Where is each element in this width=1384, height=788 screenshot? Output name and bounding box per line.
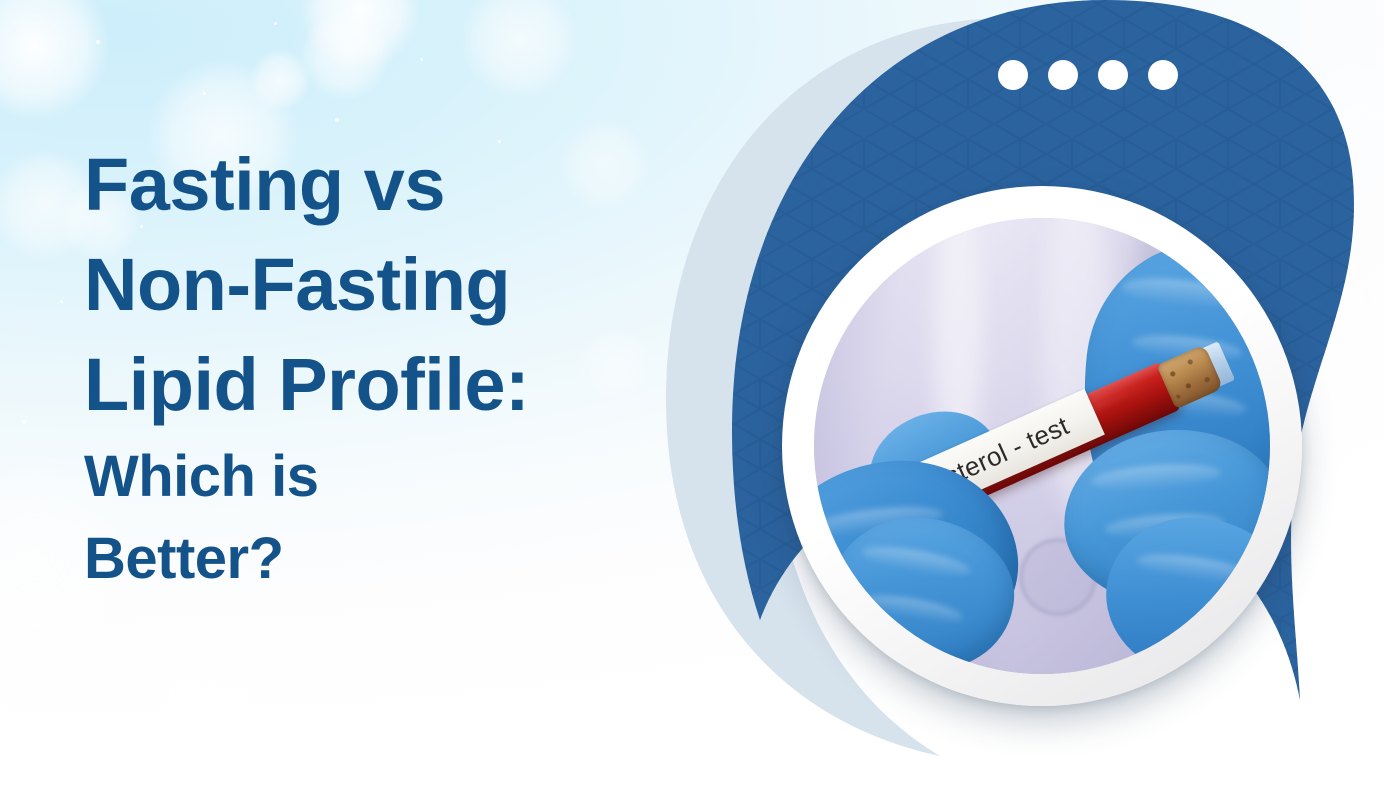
dot-4: [1148, 60, 1178, 90]
poster-canvas: Cholesterol - test: [0, 0, 1384, 788]
title-line-4: Which is: [84, 448, 644, 506]
dot-2: [1048, 60, 1078, 90]
photo-medallion-ring: Cholesterol - test: [782, 186, 1302, 706]
decorative-dots: [998, 60, 1178, 90]
cholesterol-test-photo: Cholesterol - test: [814, 218, 1270, 674]
title-line-1: Fasting vs: [84, 148, 644, 222]
dot-1: [998, 60, 1028, 90]
title-line-2: Non-Fasting: [84, 248, 644, 322]
page-title: Fasting vs Non-Fasting Lipid Profile: Wh…: [84, 148, 644, 588]
dot-3: [1098, 60, 1128, 90]
title-line-3: Lipid Profile:: [84, 348, 644, 422]
title-line-5: Better?: [84, 530, 644, 588]
